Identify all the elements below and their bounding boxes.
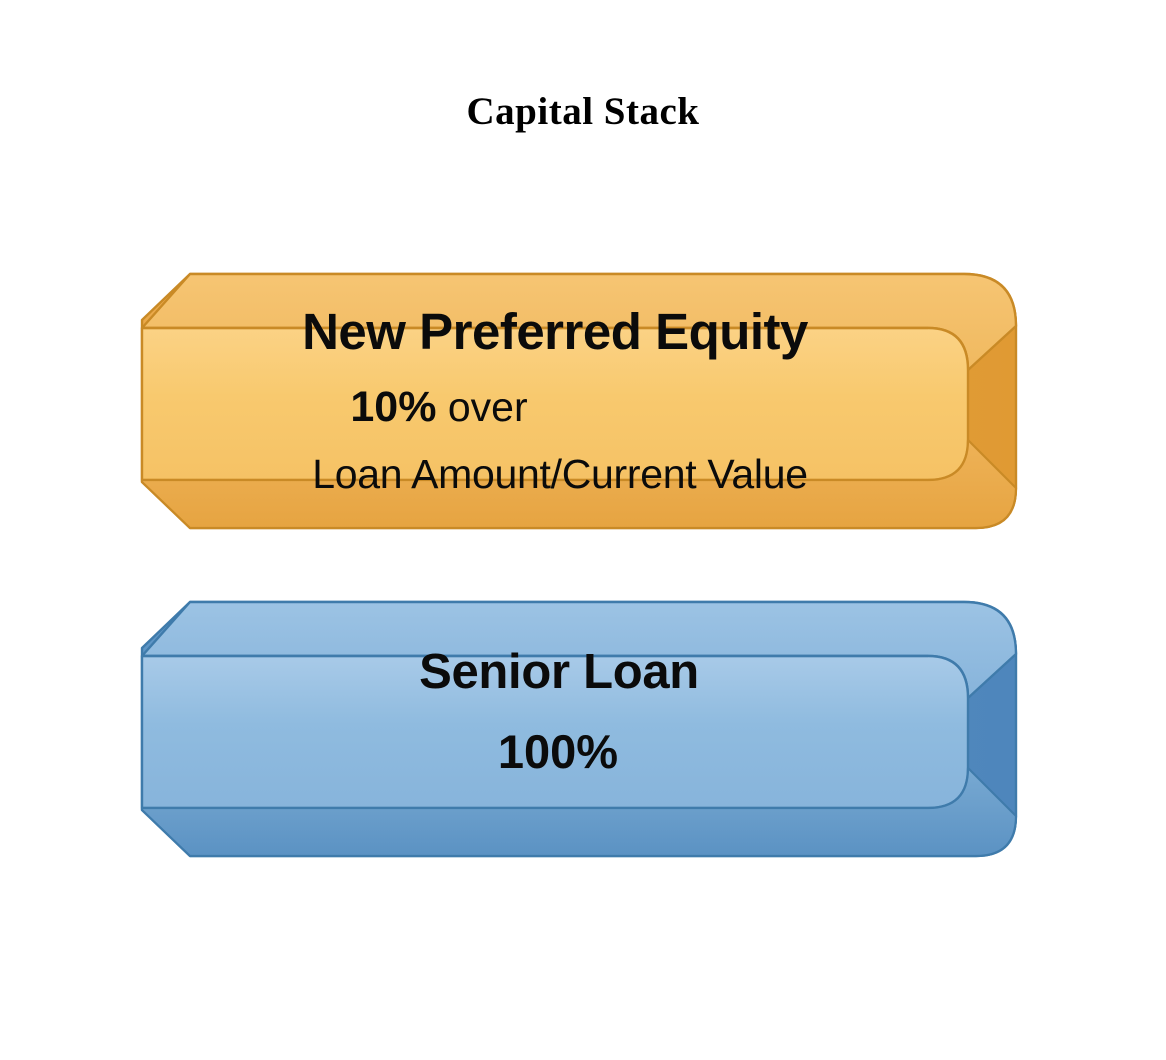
stack-layer-senior-loan[interactable]: Senior Loan 100%	[128, 556, 1040, 862]
diagram-canvas: Capital Stack	[0, 0, 1166, 1060]
page-title: Capital Stack	[0, 92, 1166, 133]
stack-layer-new-preferred-equity[interactable]: New Preferred Equity 10% over Loan Amoun…	[128, 228, 1040, 534]
senior-loan-shape	[128, 556, 1040, 862]
new-preferred-equity-shape	[128, 228, 1040, 534]
